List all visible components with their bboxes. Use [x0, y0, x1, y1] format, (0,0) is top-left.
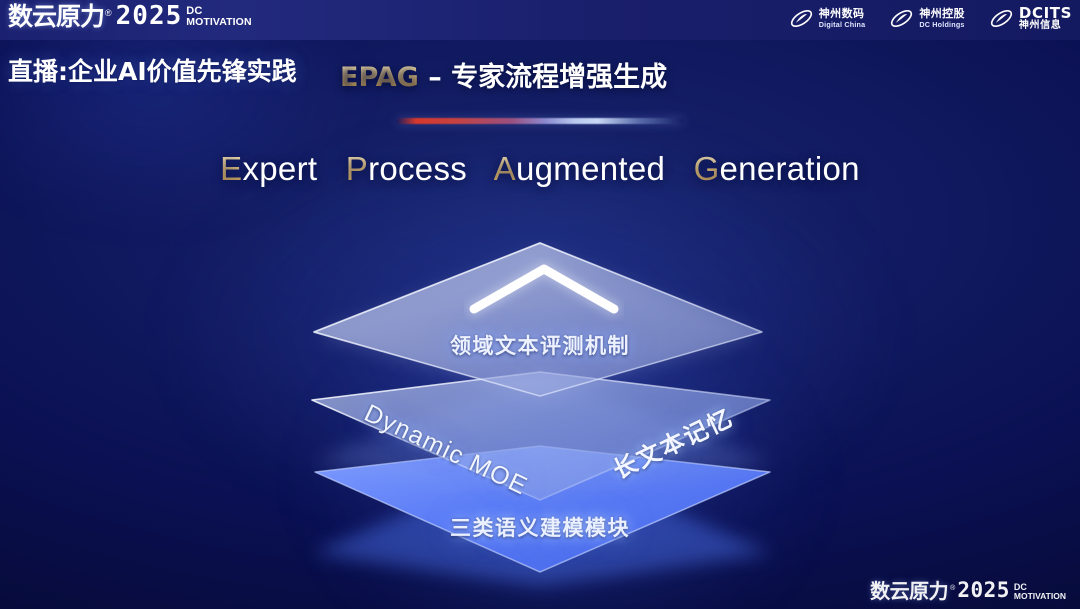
logo-dcits: DCITS 神州信息	[989, 5, 1072, 32]
event-brand-cn: 数云原力	[8, 4, 104, 29]
expansion-space-3	[675, 150, 684, 187]
page-title-acronym: EPAG	[340, 62, 419, 93]
logo-dc-holdings-text: 神州控股 DC Holdings	[919, 9, 965, 29]
dcits-swirl-icon	[989, 6, 1014, 31]
event-brand-motivation: MOTIVATION	[186, 17, 251, 28]
title-divider	[396, 118, 684, 124]
expansion-space-1	[327, 150, 336, 187]
expansion-cap-g: G	[694, 150, 720, 187]
expansion-word-generation: Generation	[694, 150, 860, 187]
event-brand-dc: DC	[186, 6, 251, 17]
logo-digital-china-text: 神州数码 Digital China	[819, 9, 866, 29]
page-title-chinese: 专家流程增强生成	[451, 62, 667, 93]
expansion-word-process: Process	[346, 150, 467, 187]
expansion-rest-generation: eneration	[720, 150, 860, 187]
logo-dc-holdings: 神州控股 DC Holdings	[889, 6, 965, 31]
event-brand-dc-block: DC MOTIVATION	[186, 6, 251, 28]
expansion-word-augmented: Augmented	[494, 150, 666, 187]
event-brand-logo: 数云原力 ® 2025 DC MOTIVATION	[8, 3, 252, 29]
logo-dcits-text: DCITS 神州信息	[1019, 5, 1072, 32]
logo-digital-china: 神州数码 Digital China	[789, 6, 866, 31]
page-title: EPAG – 专家流程增强生成	[340, 55, 667, 94]
slide-root: 数云原力 ® 2025 DC MOTIVATION 神州数码 Digital C…	[0, 0, 1080, 609]
logo-digital-china-en: Digital China	[819, 21, 866, 29]
live-session-title: 直播:企业AI价值先锋实践	[8, 52, 297, 88]
expansion-space-2	[477, 150, 486, 187]
logo-dcits-cn: 神州信息	[1019, 21, 1072, 32]
expansion-rest-process: rocess	[368, 150, 467, 187]
expansion-rest-augmented: ugmented	[516, 150, 665, 187]
acronym-expansion: Expert Process Augmented Generation	[0, 150, 1080, 188]
watermark-dc-block: DC MOTIVATION	[1014, 583, 1066, 601]
footer-watermark-logo: 数云原力 ® 2025 DC MOTIVATION	[870, 580, 1066, 601]
partner-logo-group: 神州数码 Digital China 神州控股 DC Holdings	[789, 5, 1072, 32]
expansion-rest-expert: xpert	[242, 150, 317, 187]
page-title-separator: –	[419, 62, 451, 93]
watermark-cn: 数云原力	[870, 581, 948, 601]
watermark-year: 2025	[957, 580, 1010, 601]
expansion-word-expert: Expert	[220, 150, 317, 187]
logo-dcits-en: DCITS	[1019, 5, 1072, 21]
header-bar: 数云原力 ® 2025 DC MOTIVATION 神州数码 Digital C…	[0, 0, 1080, 40]
stack-plate-top[interactable]	[314, 243, 762, 396]
expansion-cap-a: A	[494, 150, 516, 187]
event-brand-year: 2025	[116, 3, 183, 29]
digital-china-swirl-icon	[789, 6, 814, 31]
logo-digital-china-cn: 神州数码	[819, 9, 866, 21]
logo-dc-holdings-en: DC Holdings	[919, 21, 965, 29]
watermark-registered: ®	[950, 585, 955, 592]
watermark-motivation: MOTIVATION	[1014, 592, 1066, 601]
dc-holdings-swirl-icon	[889, 6, 914, 31]
event-brand-registered: ®	[105, 8, 112, 18]
expansion-cap-p: P	[346, 150, 368, 187]
expansion-cap-e: E	[220, 150, 242, 187]
logo-dc-holdings-cn: 神州控股	[919, 9, 965, 21]
